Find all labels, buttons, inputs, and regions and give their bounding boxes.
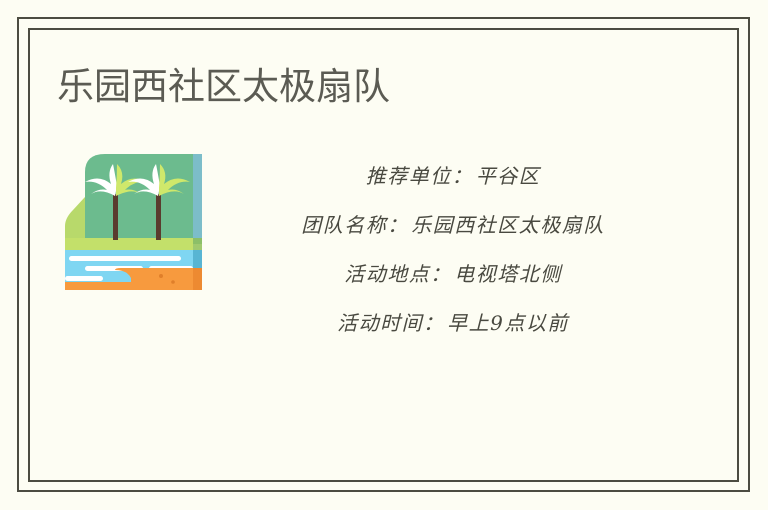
info-line-activity-time: 活动时间：早上9点以前 [229, 299, 677, 348]
info-line-activity-location: 活动地点：电视塔北侧 [229, 250, 677, 299]
content-row: 推荐单位：平谷区 团队名称：乐园西社区太极扇队 活动地点：电视塔北侧 活动时间：… [57, 146, 677, 346]
info-label-recommending-unit: 推荐单位 [366, 164, 452, 188]
info-value-activity-location: 电视塔北侧 [454, 262, 562, 286]
beach-palm-trees-icon [57, 148, 208, 296]
info-label-activity-location: 活动地点 [344, 262, 430, 286]
info-line-recommending-unit: 推荐单位：平谷区 [229, 152, 677, 201]
info-value-recommending-unit: 平谷区 [476, 164, 541, 188]
info-value-activity-time: 早上9点以前 [447, 311, 569, 335]
info-block: 推荐单位：平谷区 团队名称：乐园西社区太极扇队 活动地点：电视塔北侧 活动时间：… [229, 152, 677, 348]
info-value-team-name: 乐园西社区太极扇队 [411, 213, 605, 237]
info-separator: ： [430, 262, 454, 286]
info-line-team-name: 团队名称：乐园西社区太极扇队 [229, 201, 677, 250]
page-root: 乐园西社区太极扇队 [0, 0, 768, 510]
info-separator: ： [387, 213, 411, 237]
page-title: 乐园西社区太极扇队 [57, 63, 390, 111]
info-label-activity-time: 活动时间 [337, 311, 423, 335]
info-label-team-name: 团队名称 [301, 213, 387, 237]
info-separator: ： [452, 164, 476, 188]
info-separator: ： [423, 311, 447, 335]
